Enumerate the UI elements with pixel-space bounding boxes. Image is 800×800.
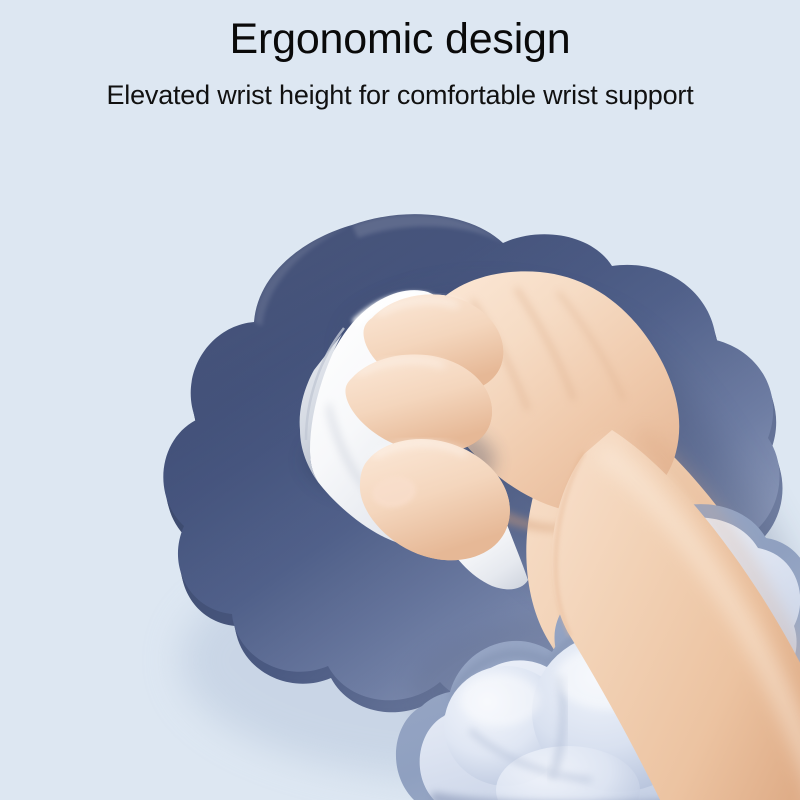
text-block: Ergonomic design Elevated wrist height f…: [0, 0, 800, 111]
page-title: Ergonomic design: [0, 0, 800, 63]
product-scene: [0, 0, 800, 800]
product-marketing-image: Ergonomic design Elevated wrist height f…: [0, 0, 800, 800]
page-subtitle: Elevated wrist height for comfortable wr…: [0, 63, 800, 111]
product-scene-illustration: [0, 0, 800, 800]
